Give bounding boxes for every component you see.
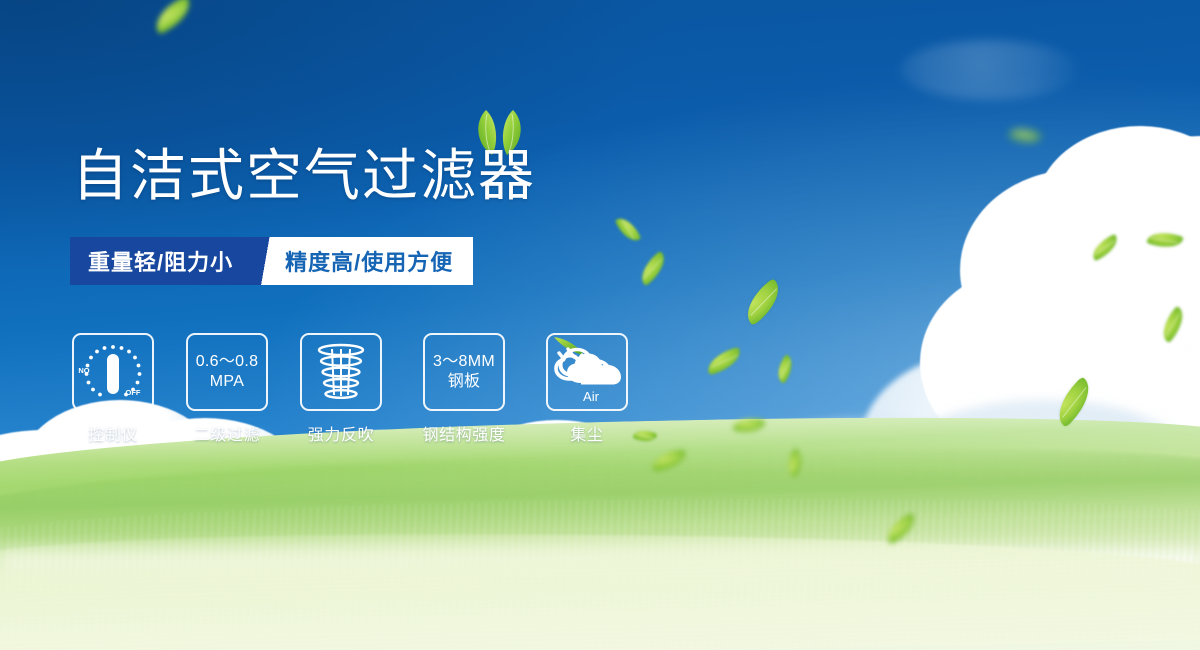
feature-caption: 强力反吹	[308, 421, 374, 445]
feature-item-pressure[interactable]: 0.6～0.8 MPA 二级过滤	[186, 333, 268, 445]
feature-icon-box: 3～8MM 钢板	[423, 333, 505, 411]
pressure-unit: MPA	[196, 372, 259, 392]
feature-item-steel[interactable]: 3～8MM 钢板 钢结构强度	[414, 333, 514, 445]
air-cloud-icon: Air	[548, 335, 626, 409]
subtitle-left: 重量轻/阻力小	[70, 237, 253, 285]
feature-icon-box: Air	[546, 333, 628, 411]
feature-caption: 控制仪	[88, 421, 138, 445]
subtitle-bar: 重量轻/阻力小 精度高/使用方便	[70, 237, 473, 285]
feature-icon-box: NO OFF	[72, 333, 154, 411]
feature-caption: 二级过滤	[194, 421, 260, 445]
feature-list: NO OFF 控制仪 0.6～0.8 MPA 二级过滤	[72, 333, 628, 445]
control-gauge-icon: NO OFF	[76, 337, 150, 407]
feature-icon-box: 0.6～0.8 MPA	[186, 333, 268, 411]
subtitle-wedge-divider	[253, 237, 279, 285]
steel-material: 钢板	[433, 372, 495, 392]
pressure-text-icon: 0.6～0.8 MPA	[196, 352, 259, 391]
feature-item-backblow[interactable]: 强力反吹	[300, 333, 382, 445]
filter-cartridge-icon	[309, 341, 373, 403]
pressure-range: 0.6～0.8	[196, 352, 259, 372]
feature-caption: 钢结构强度	[422, 421, 505, 445]
air-label: Air	[583, 389, 600, 404]
banner-stage: 自洁式空气过滤器 重量轻/阻力小 精度高/使用方便	[0, 0, 1200, 650]
subtitle-right: 精度高/使用方便	[279, 237, 473, 285]
feature-caption: 集尘	[570, 421, 603, 445]
feature-item-control[interactable]: NO OFF 控制仪	[72, 333, 154, 445]
gauge-label-no: NO	[78, 366, 89, 375]
steel-thickness: 3～8MM	[433, 352, 495, 372]
grass-foreground	[0, 530, 1200, 650]
gauge-label-off: OFF	[126, 388, 141, 397]
feature-icon-box	[300, 333, 382, 411]
feature-item-dust[interactable]: Air 集尘	[546, 333, 628, 445]
steel-plate-text-icon: 3～8MM 钢板	[433, 352, 495, 391]
page-title: 自洁式空气过滤器	[72, 146, 536, 205]
